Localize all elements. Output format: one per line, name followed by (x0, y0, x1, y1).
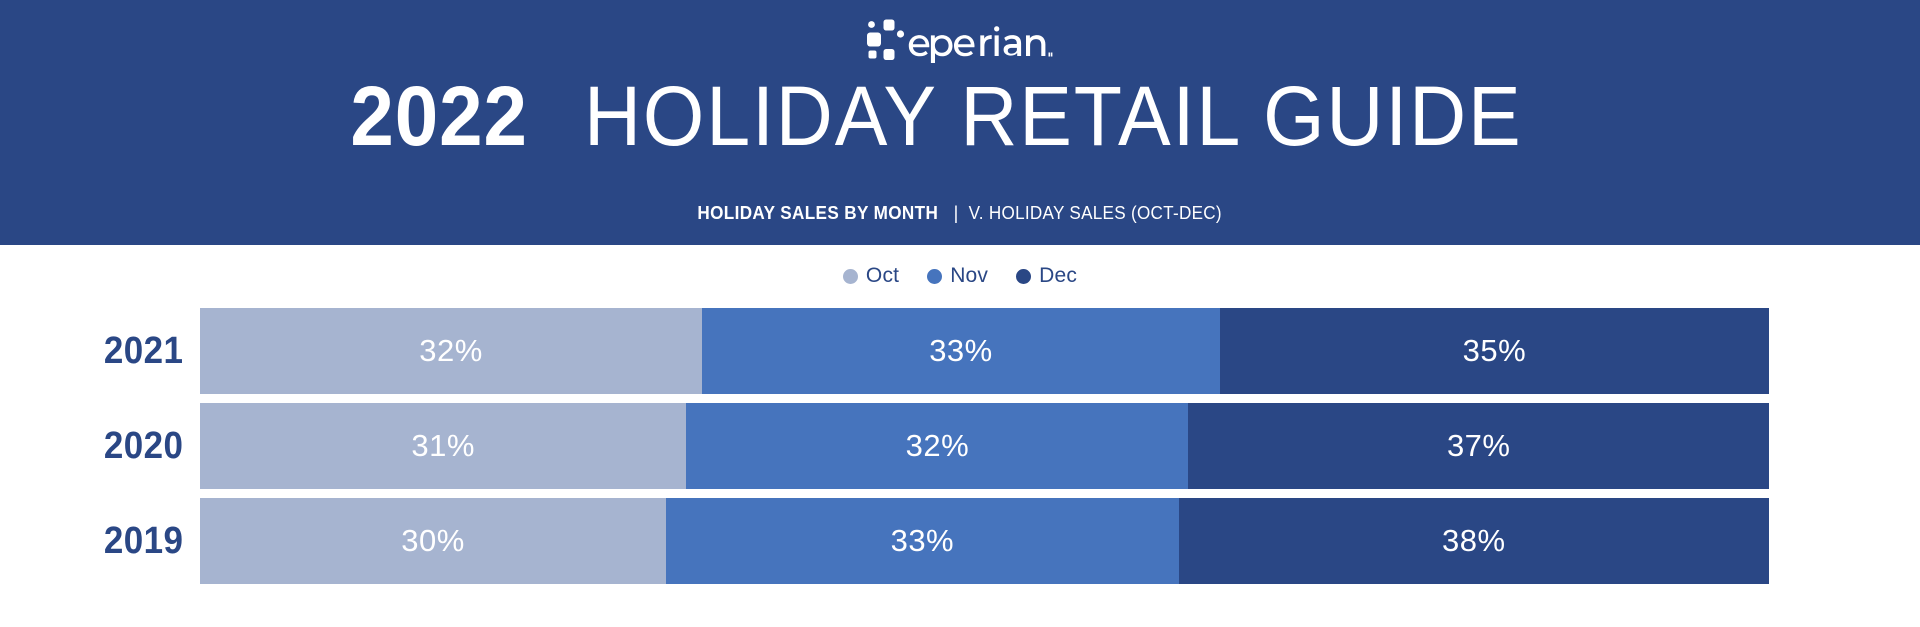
title-main: HOLIDAY RETAIL GUIDE (584, 74, 1523, 158)
bar-row: 201930%33%38% (0, 498, 1920, 584)
holiday-retail-guide-infographic: 2022 HOLIDAY RETAIL GUIDE HOLIDAY SALES … (0, 0, 1920, 627)
legend-swatch-icon (843, 269, 858, 284)
header-banner: 2022 HOLIDAY RETAIL GUIDE HOLIDAY SALES … (0, 0, 1920, 245)
bar-segment-dec: 37% (1188, 403, 1769, 489)
bar-segment-dec: 35% (1220, 308, 1769, 394)
bar-row-year-label: 2021 (16, 330, 200, 373)
bar-segment-value: 30% (401, 523, 465, 559)
legend-label: Oct (866, 264, 899, 288)
bar-segment-value: 35% (1463, 333, 1527, 369)
bar-track: 32%33%35% (200, 308, 1769, 394)
bar-segment-nov: 33% (666, 498, 1179, 584)
bar-track: 31%32%37% (200, 403, 1769, 489)
legend-item-oct: Oct (843, 264, 899, 288)
bar-segment-value: 37% (1447, 428, 1511, 464)
bar-row-year-label: 2020 (16, 425, 200, 468)
subtitle-light: V. HOLIDAY SALES (OCT-DEC) (969, 203, 1222, 224)
bar-track: 30%33%38% (200, 498, 1769, 584)
subtitle-bold: HOLIDAY SALES BY MONTH (697, 203, 938, 224)
bar-row-year-label: 2019 (16, 520, 200, 563)
bar-segment-value: 33% (891, 523, 955, 559)
subtitle: HOLIDAY SALES BY MONTH | V. HOLIDAY SALE… (0, 200, 1920, 226)
chart-legend: OctNovDec (0, 262, 1920, 290)
legend-item-nov: Nov (927, 264, 988, 288)
bar-row: 202132%33%35% (0, 308, 1920, 394)
stacked-bar-chart: 202132%33%35%202031%32%37%201930%33%38% (0, 308, 1920, 593)
page-title: 2022 HOLIDAY RETAIL GUIDE (0, 72, 1920, 160)
legend-label: Dec (1039, 264, 1077, 288)
legend-swatch-icon (927, 269, 942, 284)
title-year: 2022 (351, 74, 529, 158)
bar-segment-oct: 32% (200, 308, 702, 394)
bar-row: 202031%32%37% (0, 403, 1920, 489)
experian-logo-icon (867, 19, 1053, 63)
subtitle-separator: | (945, 203, 963, 224)
bar-segment-dec: 38% (1179, 498, 1769, 584)
experian-logo (0, 20, 1920, 62)
legend-label: Nov (950, 264, 988, 288)
bar-segment-value: 32% (906, 428, 970, 464)
bar-segment-oct: 31% (200, 403, 686, 489)
bar-segment-nov: 32% (686, 403, 1188, 489)
legend-item-dec: Dec (1016, 264, 1077, 288)
bar-segment-value: 38% (1442, 523, 1506, 559)
bar-segment-value: 32% (419, 333, 483, 369)
legend-swatch-icon (1016, 269, 1031, 284)
bar-segment-value: 31% (411, 428, 475, 464)
bar-segment-nov: 33% (702, 308, 1220, 394)
bar-segment-oct: 30% (200, 498, 666, 584)
bar-segment-value: 33% (929, 333, 993, 369)
